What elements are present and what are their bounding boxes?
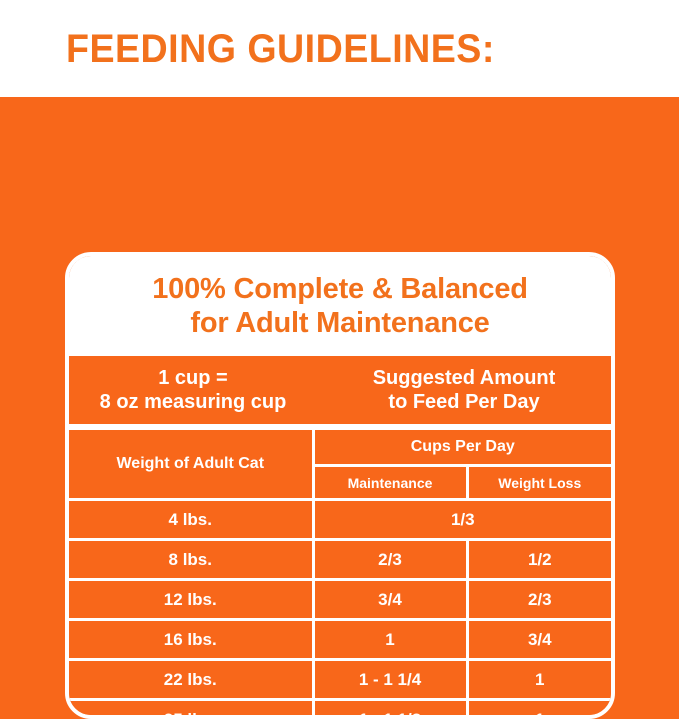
header-weight-loss: Weight Loss [467, 466, 611, 500]
table-body: 4 lbs.1/38 lbs.2/31/212 lbs.3/42/316 lbs… [69, 500, 611, 719]
page-header-banner: FEEDING GUIDELINES: [0, 0, 679, 97]
cell-weight-loss: 3/4 [467, 620, 611, 660]
orange-background: 100% Complete & Balanced for Adult Maint… [0, 97, 679, 679]
cell-weight-loss: 1 [467, 700, 611, 719]
header-weight-of-adult-cat: Weight of Adult Cat [69, 429, 313, 500]
headline-line-1: 100% Complete & Balanced [152, 273, 528, 307]
header-cups-per-day: Cups Per Day [313, 429, 611, 466]
headline-line-2: for Adult Maintenance [190, 307, 489, 341]
cell-weight: 25 lbs. [69, 700, 313, 719]
suggested-amount-label: Suggested Amount to Feed Per Day [317, 366, 611, 414]
table-header-row-group: Weight of Adult Cat Cups Per Day [69, 429, 611, 466]
measurement-and-amount-band: 1 cup = 8 oz measuring cup Suggested Amo… [69, 356, 611, 427]
header-maintenance: Maintenance [313, 466, 467, 500]
cell-weight: 12 lbs. [69, 580, 313, 620]
cell-maintenance: 3/4 [313, 580, 467, 620]
table-row: 25 lbs.1 - 1 1/31 [69, 700, 611, 719]
cell-weight-loss: 2/3 [467, 580, 611, 620]
cell-amount-merged: 1/3 [313, 500, 611, 540]
cup-definition-line-1: 1 cup = [158, 366, 227, 390]
page-title: FEEDING GUIDELINES: [66, 29, 495, 69]
cell-weight: 16 lbs. [69, 620, 313, 660]
table-row: 4 lbs.1/3 [69, 500, 611, 540]
cell-maintenance: 1 - 1 1/3 [313, 700, 467, 719]
cell-weight-loss: 1/2 [467, 540, 611, 580]
cell-weight: 8 lbs. [69, 540, 313, 580]
table-row: 22 lbs.1 - 1 1/41 [69, 660, 611, 700]
suggested-amount-line-2: to Feed Per Day [388, 390, 539, 414]
cell-maintenance: 2/3 [313, 540, 467, 580]
table-head: Weight of Adult Cat Cups Per Day Mainten… [69, 429, 611, 500]
card-headline: 100% Complete & Balanced for Adult Maint… [69, 256, 611, 356]
table-row: 8 lbs.2/31/2 [69, 540, 611, 580]
feeding-table: Weight of Adult Cat Cups Per Day Mainten… [69, 427, 611, 719]
cell-weight-loss: 1 [467, 660, 611, 700]
cell-weight: 4 lbs. [69, 500, 313, 540]
cell-maintenance: 1 - 1 1/4 [313, 660, 467, 700]
cell-maintenance: 1 [313, 620, 467, 660]
feeding-guidelines-card: 100% Complete & Balanced for Adult Maint… [65, 252, 615, 719]
cup-definition: 1 cup = 8 oz measuring cup [69, 366, 317, 414]
suggested-amount-line-1: Suggested Amount [373, 366, 556, 390]
cup-definition-line-2: 8 oz measuring cup [100, 390, 287, 414]
table-row: 12 lbs.3/42/3 [69, 580, 611, 620]
table-row: 16 lbs.13/4 [69, 620, 611, 660]
cell-weight: 22 lbs. [69, 660, 313, 700]
